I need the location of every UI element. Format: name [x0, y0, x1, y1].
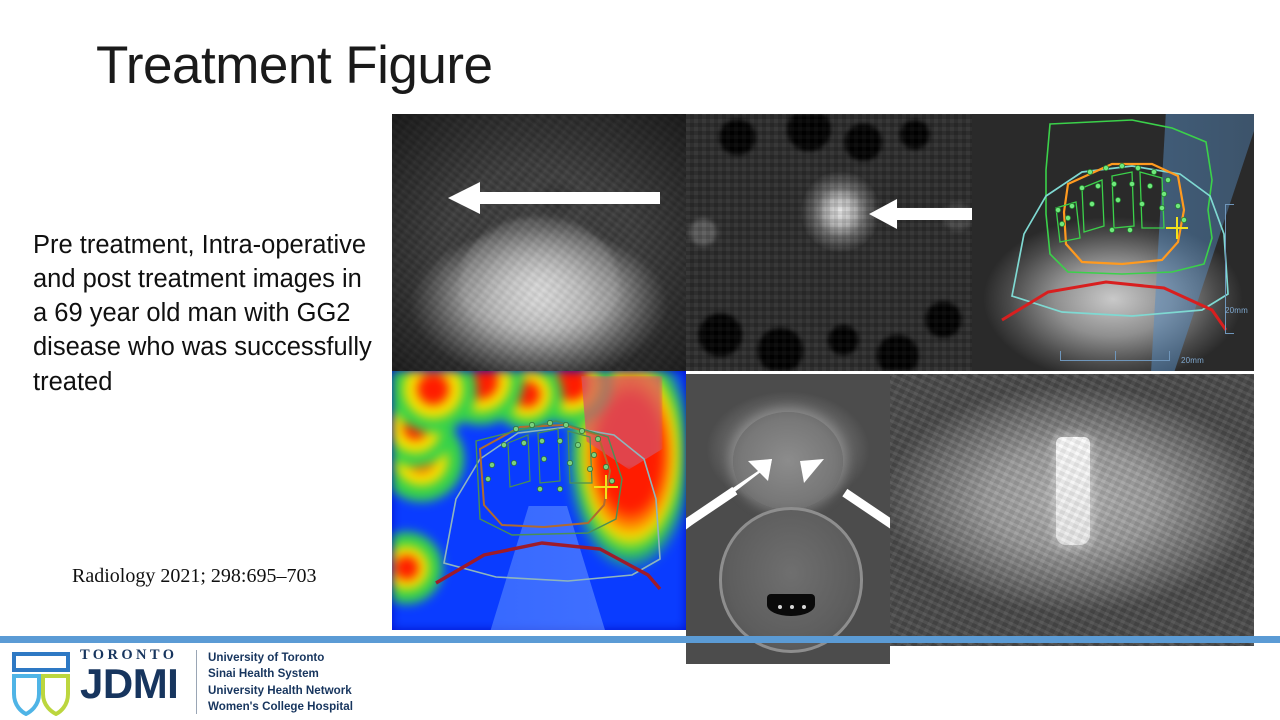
affiliation-list: University of Toronto Sinai Health Syste… — [208, 650, 353, 716]
slide-canvas: Treatment Figure Pre treatment, Intra-op… — [0, 0, 1280, 720]
map-contour-rectal-wall — [436, 543, 660, 589]
scale-label-right: 20mm — [1225, 306, 1248, 315]
t2-vignette — [392, 114, 686, 371]
footer-accent-bar — [0, 636, 1280, 643]
panel-intra-operative-endorectal-device — [686, 374, 890, 664]
device-balloon — [767, 594, 814, 616]
margin-arrow-right-icon — [798, 459, 890, 539]
thermometry-contour-overlay — [392, 371, 686, 630]
lesion-arrow-icon — [444, 176, 664, 220]
page-title: Treatment Figure — [96, 38, 493, 94]
affiliation-item: Women's College Hospital — [208, 699, 353, 715]
map-target-crosshair-icon — [594, 475, 618, 499]
affiliation-item: University of Toronto — [208, 650, 353, 666]
contour-rectal-wall-red — [1002, 282, 1226, 330]
logo-divider — [196, 650, 197, 714]
restricted-diffusion-arrow-icon — [866, 194, 972, 234]
affiliation-item: University Health Network — [208, 683, 353, 699]
affiliation-item: Sinai Health System — [208, 666, 353, 682]
margin-arrow-left-icon — [686, 459, 774, 539]
citation-text: Radiology 2021; 298:695–703 — [72, 565, 316, 588]
horizontal-scale-ruler — [1060, 351, 1170, 361]
body-text: Pre treatment, Intra-operative and post … — [33, 228, 373, 399]
treatment-contour-overlay — [972, 114, 1254, 371]
map-contour-segments — [508, 429, 592, 487]
panel-pre-treatment-t2-axial — [392, 114, 686, 371]
dwi-pixelation-texture — [686, 114, 972, 371]
logo-wordmark: TORONTO JDMI — [80, 648, 178, 704]
panel-pre-treatment-dwi — [686, 114, 972, 371]
institution-logo: TORONTO JDMI University of Toronto Sinai… — [8, 648, 368, 718]
panel-post-treatment-t2-axial — [890, 374, 1254, 646]
shield-logo-icon — [10, 650, 72, 716]
panel-intra-operative-thermometry-map — [392, 371, 686, 630]
panel-intra-operative-treatment-plan: 20mm 20mm — [972, 114, 1254, 371]
scale-label-bottom: 20mm — [1181, 356, 1204, 365]
post-image-texture — [890, 374, 1254, 646]
logo-jdmi-text: JDMI — [80, 664, 178, 704]
